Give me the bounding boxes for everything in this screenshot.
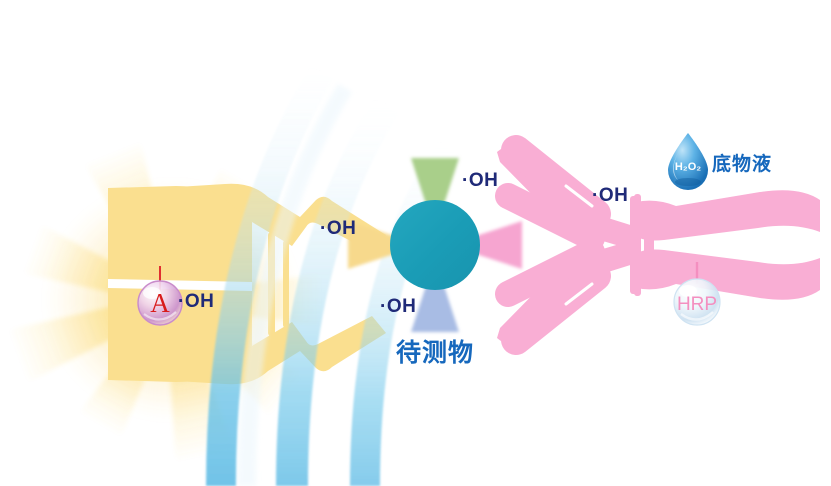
peroxide-label: H₂O₂ [675,161,701,173]
radical-label-1: ·OH [178,292,214,311]
hrp-bead-label: HRP [677,294,717,315]
substrate-caption: 底物液 [712,155,772,174]
radical-label-4: ·OH [462,171,498,190]
analyte-caption: 待测物 [396,341,474,366]
substrate-droplet: H₂O₂ [668,133,708,190]
radical-label-3: ·OH [380,297,416,316]
radical-label-2: ·OH [320,219,356,238]
detection-antibody-fc [636,190,820,300]
analyte-core [390,200,480,290]
radical-label-5: ·OH [592,186,628,205]
antigen-bead-label: A [150,288,170,318]
immunoassay-schematic: A [0,0,831,486]
diagram-canvas: A [0,0,831,486]
